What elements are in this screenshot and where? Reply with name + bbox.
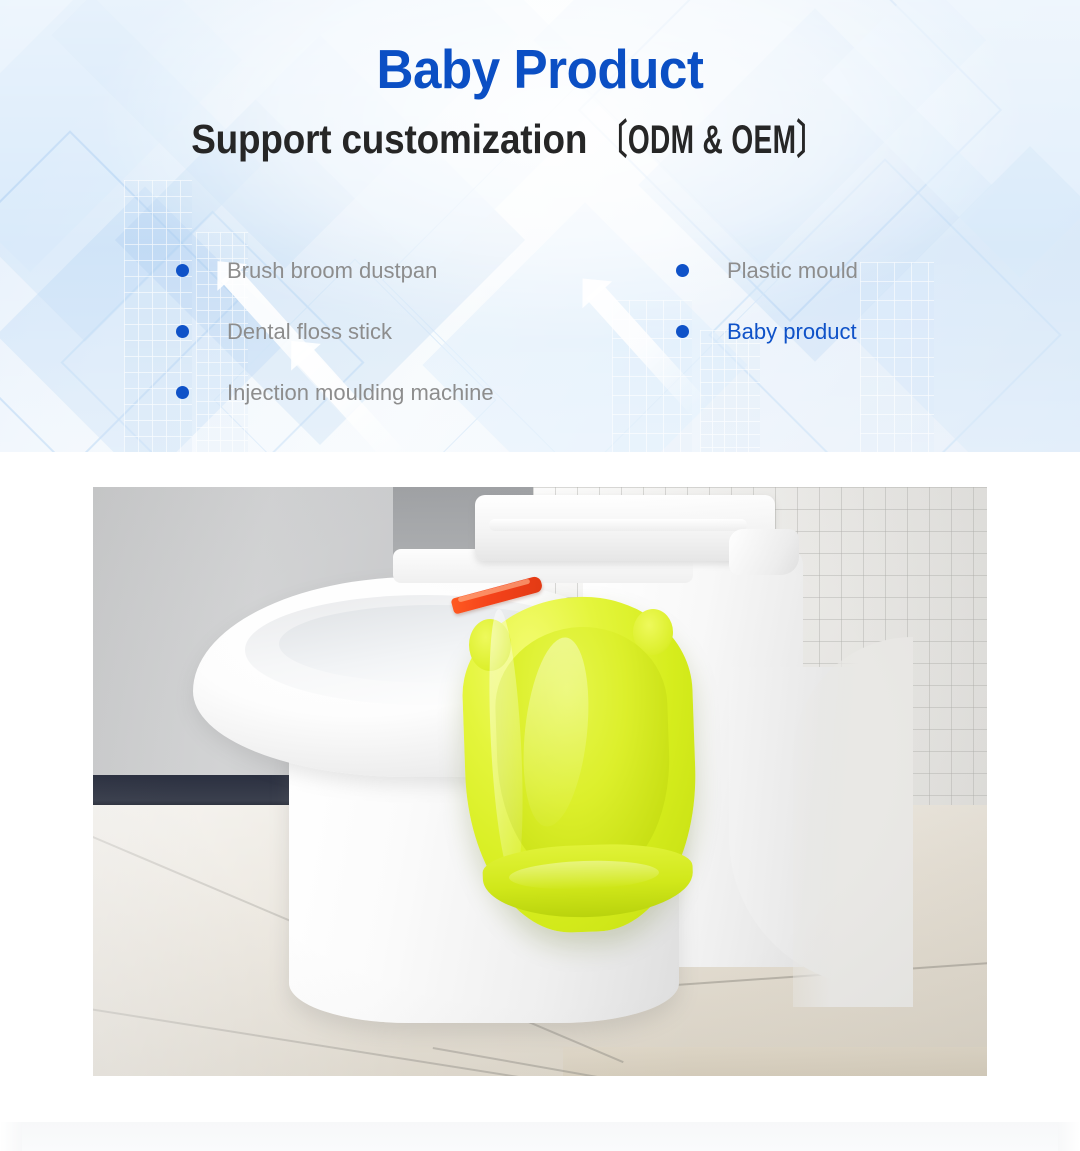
list-item-active[interactable]: Baby product [676,301,858,362]
photo-toilet-tank-edge [793,637,913,1007]
footer-strip [0,1122,1080,1151]
product-image-card [62,452,1018,1122]
list-item-label: Baby product [727,321,857,343]
list-item-label: Plastic mould [727,260,858,282]
list-item[interactable]: Injection moulding machine [176,362,494,423]
bullet-dot-icon [676,325,689,338]
footer-strip-edge-right [1058,1122,1080,1151]
page-subtitle: Support customization〔ODM & OEM〕 [54,97,1026,160]
bullet-dot-icon [676,264,689,277]
photo-toilet-lid-hinge [729,529,799,575]
category-list-left-column: Brush broom dustpan Dental floss stick I… [176,240,494,423]
banner-text-block: Baby Product Support customization〔ODM &… [0,0,1080,160]
decorative-building-grid [860,262,934,452]
bullet-dot-icon [176,325,189,338]
list-item-label: Brush broom dustpan [227,260,437,282]
category-list-right-column: Plastic mould Baby product [676,240,858,362]
footer-strip-edge-left [0,1122,22,1151]
page-subtitle-tag: 〔ODM & OEM〕 [600,120,825,160]
bullet-dot-icon [176,386,189,399]
bullet-dot-icon [176,264,189,277]
list-item[interactable]: Brush broom dustpan [176,240,494,301]
product-detail-banner-page: Baby Product Support customization〔ODM &… [0,0,1080,1151]
photo-toilet-lid-bar [489,519,747,531]
list-item[interactable]: Plastic mould [676,240,858,301]
page-subtitle-main: Support customization [191,116,587,162]
list-item-label: Dental floss stick [227,321,392,343]
product-photo [93,487,987,1076]
list-item[interactable]: Dental floss stick [176,301,494,362]
list-item-label: Injection moulding machine [227,382,494,404]
page-title: Baby Product [38,0,1042,97]
